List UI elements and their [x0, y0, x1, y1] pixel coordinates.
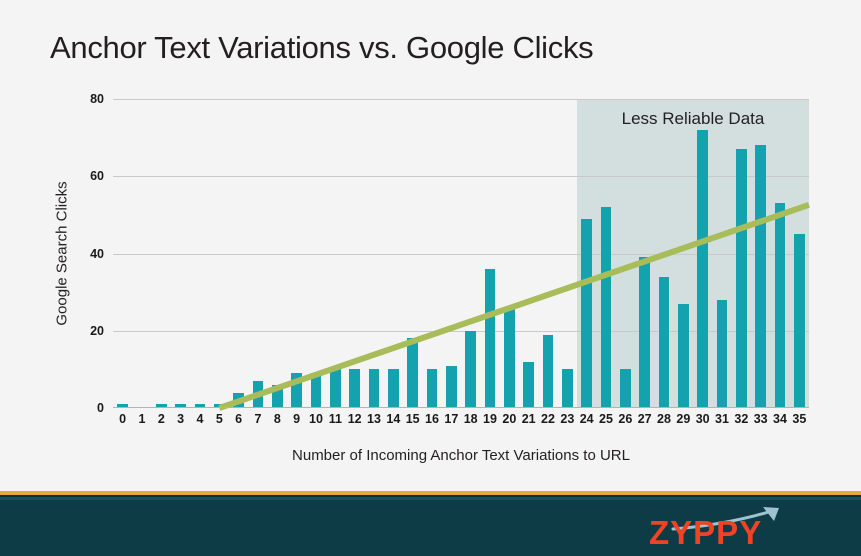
y-tick-label: 0	[97, 401, 104, 415]
x-tick-label: 18	[464, 412, 478, 426]
x-tick-label: 28	[657, 412, 671, 426]
bar	[465, 331, 476, 408]
x-tick-label: 24	[580, 412, 594, 426]
zyppy-logo[interactable]: ZYPPY	[649, 505, 809, 549]
x-tick-label: 23	[560, 412, 574, 426]
less-reliable-data-label: Less Reliable Data	[577, 109, 809, 129]
x-tick-label: 14	[386, 412, 400, 426]
x-tick-label: 0	[119, 412, 126, 426]
x-tick-label: 27	[638, 412, 652, 426]
gridline	[113, 99, 809, 100]
x-tick-label: 13	[367, 412, 381, 426]
page-title: Anchor Text Variations vs. Google Clicks	[50, 30, 593, 66]
bar	[388, 369, 399, 408]
x-tick-label: 15	[406, 412, 420, 426]
x-tick-label: 10	[309, 412, 323, 426]
y-tick-label: 20	[90, 324, 104, 338]
y-tick-label: 60	[90, 169, 104, 183]
x-axis-title: Number of Incoming Anchor Text Variation…	[113, 447, 809, 464]
bar	[678, 304, 689, 408]
bar	[233, 393, 244, 408]
plot-area: Less Reliable Data 020406080	[113, 99, 809, 408]
x-tick-label: 12	[348, 412, 362, 426]
bar	[330, 369, 341, 408]
bar	[717, 300, 728, 408]
x-tick-label: 19	[483, 412, 497, 426]
x-tick-label: 22	[541, 412, 555, 426]
y-tick-label: 80	[90, 92, 104, 106]
y-axis-title-label: Google Search Clicks	[54, 181, 71, 325]
x-tick-label: 6	[235, 412, 242, 426]
x-tick-label: 20	[502, 412, 516, 426]
x-tick-label: 30	[696, 412, 710, 426]
x-tick-label: 5	[216, 412, 223, 426]
x-tick-label: 21	[522, 412, 536, 426]
chart-screenshot: Anchor Text Variations vs. Google Clicks…	[0, 0, 861, 556]
x-tick-label: 17	[444, 412, 458, 426]
x-tick-label: 7	[255, 412, 262, 426]
footer-bar: ZYPPY	[0, 491, 861, 556]
bar	[639, 257, 650, 408]
bar	[620, 369, 631, 408]
x-tick-label: 29	[676, 412, 690, 426]
x-tick-label: 26	[618, 412, 632, 426]
x-tick-label: 11	[329, 412, 342, 426]
x-tick-label: 31	[715, 412, 729, 426]
zyppy-logo-text: ZYPPY	[649, 516, 762, 549]
bar	[504, 308, 515, 408]
x-tick-label: 16	[425, 412, 439, 426]
bar	[485, 269, 496, 408]
bar	[659, 277, 670, 408]
bar	[755, 145, 766, 408]
x-tick-label: 3	[177, 412, 184, 426]
bar	[349, 369, 360, 408]
x-tick-label: 32	[734, 412, 748, 426]
bar	[523, 362, 534, 408]
bar	[601, 207, 612, 408]
y-tick-label: 40	[90, 247, 104, 261]
bar	[369, 369, 380, 408]
x-tick-label: 34	[773, 412, 787, 426]
x-axis-baseline	[113, 407, 809, 408]
bar	[272, 385, 283, 408]
x-tick-label: 1	[139, 412, 146, 426]
bar	[775, 203, 786, 408]
x-tick-label: 2	[158, 412, 165, 426]
footer-teal-stripe	[0, 497, 861, 500]
bar	[562, 369, 573, 408]
bar	[427, 369, 438, 408]
bar	[736, 149, 747, 408]
bar	[446, 366, 457, 408]
bar	[291, 373, 302, 408]
bar	[794, 234, 805, 408]
bar	[253, 381, 264, 408]
bar	[543, 335, 554, 408]
x-tick-label: 33	[754, 412, 768, 426]
x-tick-label: 8	[274, 412, 281, 426]
x-tick-label: 35	[792, 412, 806, 426]
bar	[311, 373, 322, 408]
x-tick-label: 4	[197, 412, 204, 426]
bar	[697, 130, 708, 408]
bar	[407, 338, 418, 408]
y-axis-title: Google Search Clicks	[52, 99, 72, 408]
x-tick-label: 25	[599, 412, 613, 426]
x-tick-label: 9	[293, 412, 300, 426]
x-axis-ticks: 0123456789101112131415161718192021222324…	[113, 412, 809, 434]
bar	[581, 219, 592, 408]
